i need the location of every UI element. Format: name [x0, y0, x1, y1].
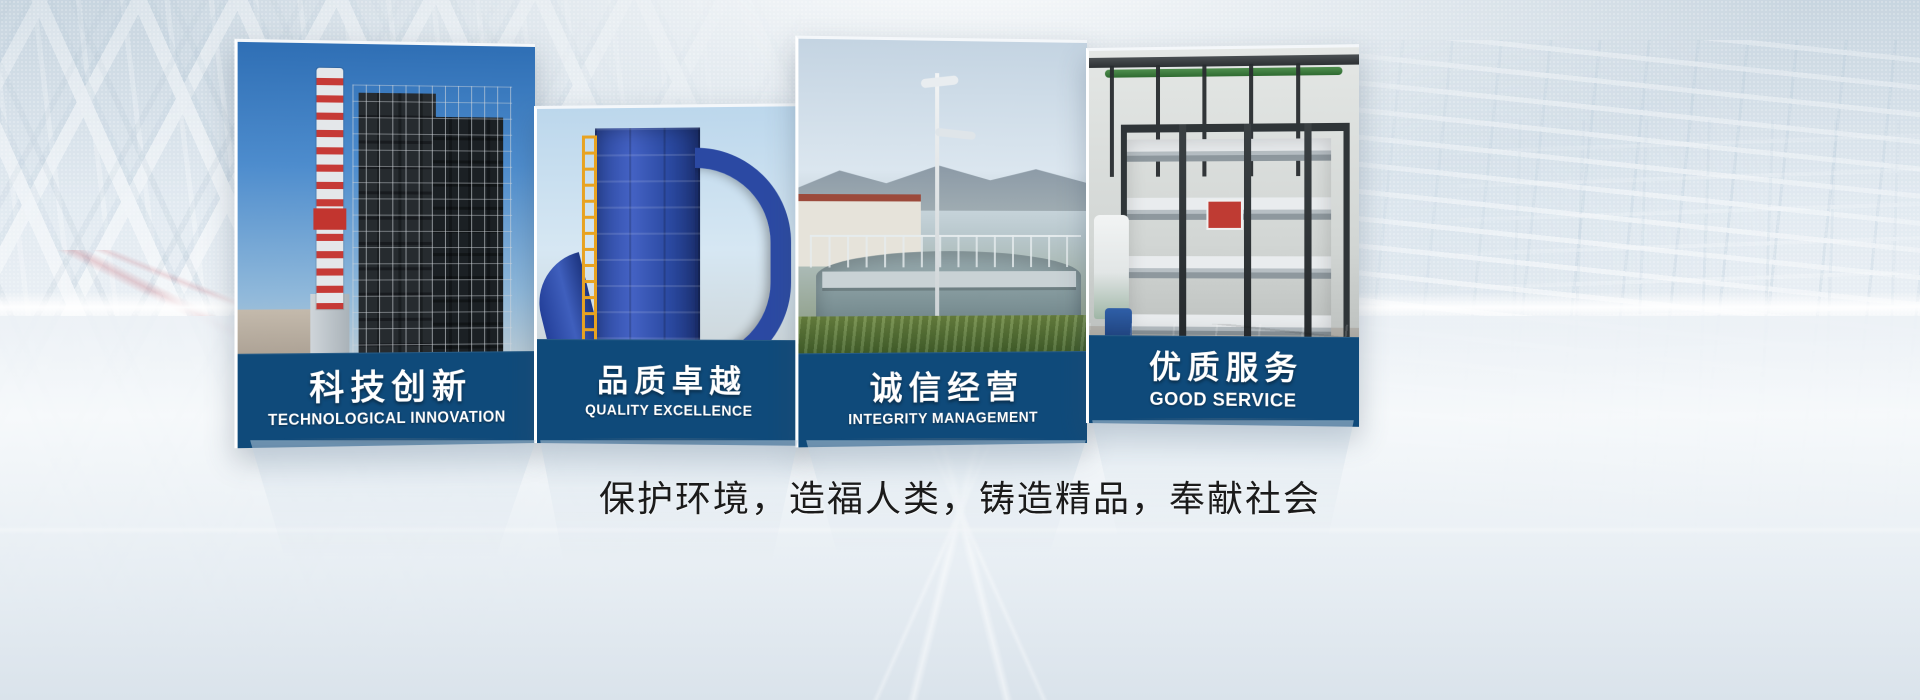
panel-3-title-cn: 诚信经营: [864, 370, 1025, 408]
company-culture-banner: 科技创新 TECHNOLOGICAL INNOVATION 品质卓越 QUALI…: [0, 0, 1920, 700]
panel-4-caption: 优质服务 GOOD SERVICE: [1089, 335, 1359, 427]
company-tagline: 保护环境，造福人类，铸造精品，奉献社会: [0, 470, 1920, 522]
panel-1-title-cn: 科技创新: [303, 368, 472, 409]
panel-group: 科技创新 TECHNOLOGICAL INNOVATION 品质卓越 QUALI…: [0, 0, 1920, 700]
panel-2-caption: 品质卓越 QUALITY EXCELLENCE: [537, 339, 802, 446]
panel-1-caption: 科技创新 TECHNOLOGICAL INNOVATION: [238, 351, 535, 448]
panel-3-caption: 诚信经营 INTEGRITY MANAGEMENT: [798, 351, 1087, 447]
panel-3-title-en: INTEGRITY MANAGEMENT: [849, 408, 1039, 428]
panel-4-title-cn: 优质服务: [1143, 350, 1303, 388]
panel-technological-innovation[interactable]: 科技创新 TECHNOLOGICAL INNOVATION: [234, 39, 535, 449]
panel-2-title-cn: 品质卓越: [591, 364, 747, 400]
panel-2-title-en: QUALITY EXCELLENCE: [585, 402, 752, 421]
panel-quality-excellence[interactable]: 品质卓越 QUALITY EXCELLENCE: [534, 103, 802, 446]
panel-good-service[interactable]: 优质服务 GOOD SERVICE: [1086, 44, 1359, 427]
panel-integrity-management[interactable]: 诚信经营 INTEGRITY MANAGEMENT: [795, 36, 1087, 448]
panel-1-title-en: TECHNOLOGICAL INNOVATION: [268, 409, 506, 431]
panel-4-title-en: GOOD SERVICE: [1150, 389, 1297, 412]
